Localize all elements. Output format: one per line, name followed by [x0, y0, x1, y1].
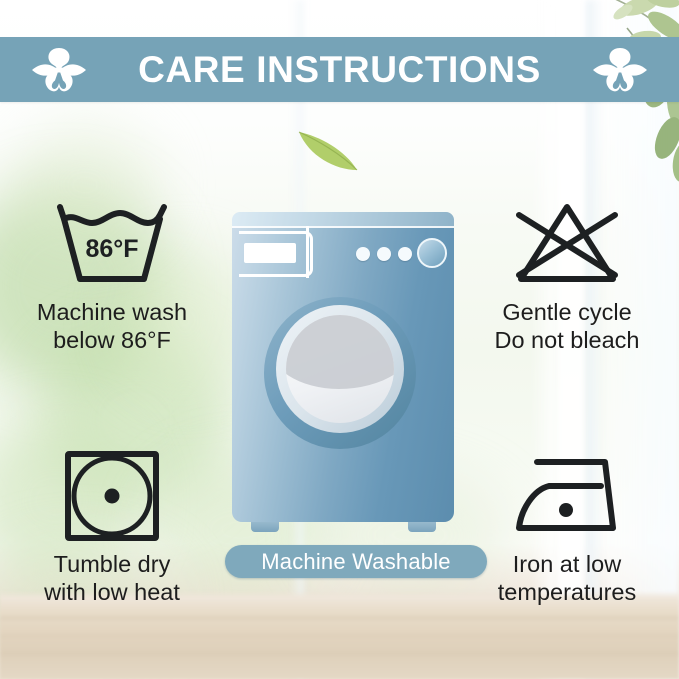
care-item-label: Gentle cycle Do not bleach [494, 299, 639, 354]
care-item-iron-low-temp: Iron at low temperatures [452, 450, 679, 606]
fleur-de-lis-icon [28, 44, 90, 96]
iron-icon-wrapper [511, 450, 623, 542]
fleur-de-lis-icon [589, 44, 651, 96]
machine-washable-badge: Machine Washable [225, 545, 487, 578]
care-item-label: Machine wash below 86°F [37, 299, 187, 354]
tumble-dry-icon-wrapper [62, 450, 162, 542]
floating-leaf-icon [295, 126, 363, 174]
washer-body [232, 212, 454, 522]
wash-tub-icon: 86°F [54, 201, 170, 287]
washer-button[interactable] [377, 247, 391, 261]
care-item-label: Tumble dry with low heat [44, 551, 180, 606]
washer-door-glass-shadow [286, 315, 394, 389]
care-item-tumble-dry-low: Tumble dry with low heat [0, 450, 227, 606]
washer-display-window [244, 243, 296, 263]
washer-button[interactable] [356, 247, 370, 261]
care-item-machine-wash: 86°F Machine wash below 86°F [0, 198, 227, 354]
iron-one-dot-icon [511, 454, 623, 538]
badge-label: Machine Washable [261, 549, 450, 575]
tumble-dry-low-heat-icon [62, 448, 162, 544]
header-banner: CARE INSTRUCTIONS [0, 37, 679, 102]
washer-door[interactable] [264, 297, 416, 449]
wash-tub-icon-wrapper: 86°F [54, 198, 170, 290]
washer-top-lid [232, 212, 454, 228]
care-instructions-infographic: CARE INSTRUCTIONS 86°F Machine wash belo… [0, 0, 679, 679]
washer-button[interactable] [398, 247, 412, 261]
washer-door-ring [276, 305, 404, 433]
washer-door-glass [286, 315, 394, 423]
wash-temperature-value: 86°F [85, 235, 138, 263]
washer-program-dial[interactable] [417, 238, 447, 268]
page-title: CARE INSTRUCTIONS [138, 49, 541, 91]
care-item-gentle-cycle-no-bleach: Gentle cycle Do not bleach [452, 198, 679, 354]
washing-machine-illustration [232, 212, 454, 534]
care-item-label: Iron at low temperatures [498, 551, 636, 606]
no-bleach-icon-wrapper [513, 198, 621, 290]
triangle-crossed-no-bleach-icon [513, 201, 621, 287]
washer-panel-divider [306, 226, 309, 278]
